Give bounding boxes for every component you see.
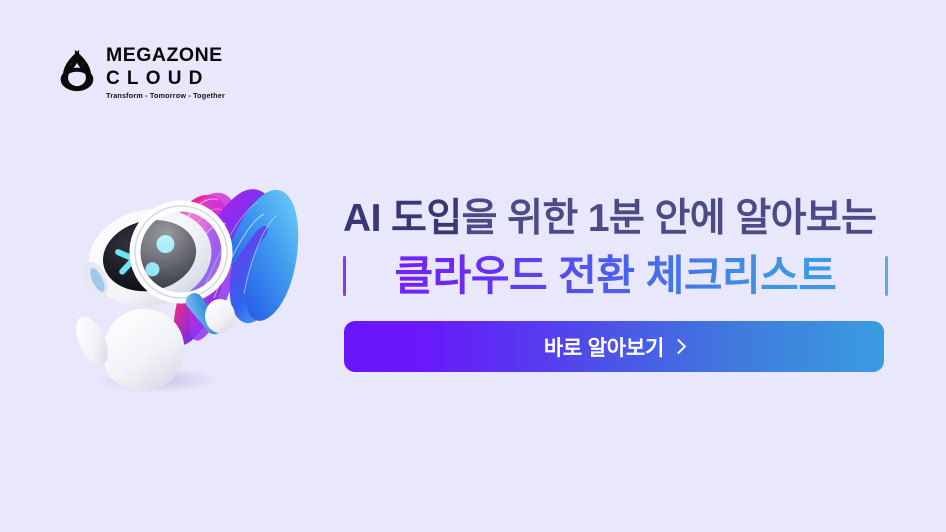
headline-line-2-row: 클라우드 전환 체크리스트 [343,251,888,301]
mascot-hand-right [205,299,235,333]
mascot-illustration [28,148,338,418]
cta-label: 바로 알아보기 [544,332,664,362]
brand-name-line1: MEGAZONE [106,46,225,66]
headline-line-1-rest: 을 위한 1분 안에 알아보는 [462,197,877,240]
chevron-right-icon [671,339,687,355]
headline-emphasis: AI 도입 [343,197,462,240]
brand-name-line2: CLOUD [106,69,225,88]
promo-banner: MEGAZONE CLOUD Transform - Tomorrow - To… [0,0,946,532]
headline-line-1: AI 도입을 위한 1분 안에 알아보는 [343,196,888,242]
triquetra-icon [54,48,100,96]
cta-button[interactable]: 바로 알아보기 [344,321,884,372]
accent-bar-right [885,256,888,296]
brand-wordmark: MEGAZONE CLOUD Transform - Tomorrow - To… [106,46,225,99]
headline-line-2: 클라우드 전환 체크리스트 [346,253,885,299]
brand-logo: MEGAZONE CLOUD Transform - Tomorrow - To… [54,46,225,99]
mascot-body [103,309,184,390]
headline-block: AI 도입을 위한 1분 안에 알아보는 클라우드 전환 체크리스트 [343,196,888,301]
brand-tagline: Transform - Tomorrow - Together [106,92,225,99]
